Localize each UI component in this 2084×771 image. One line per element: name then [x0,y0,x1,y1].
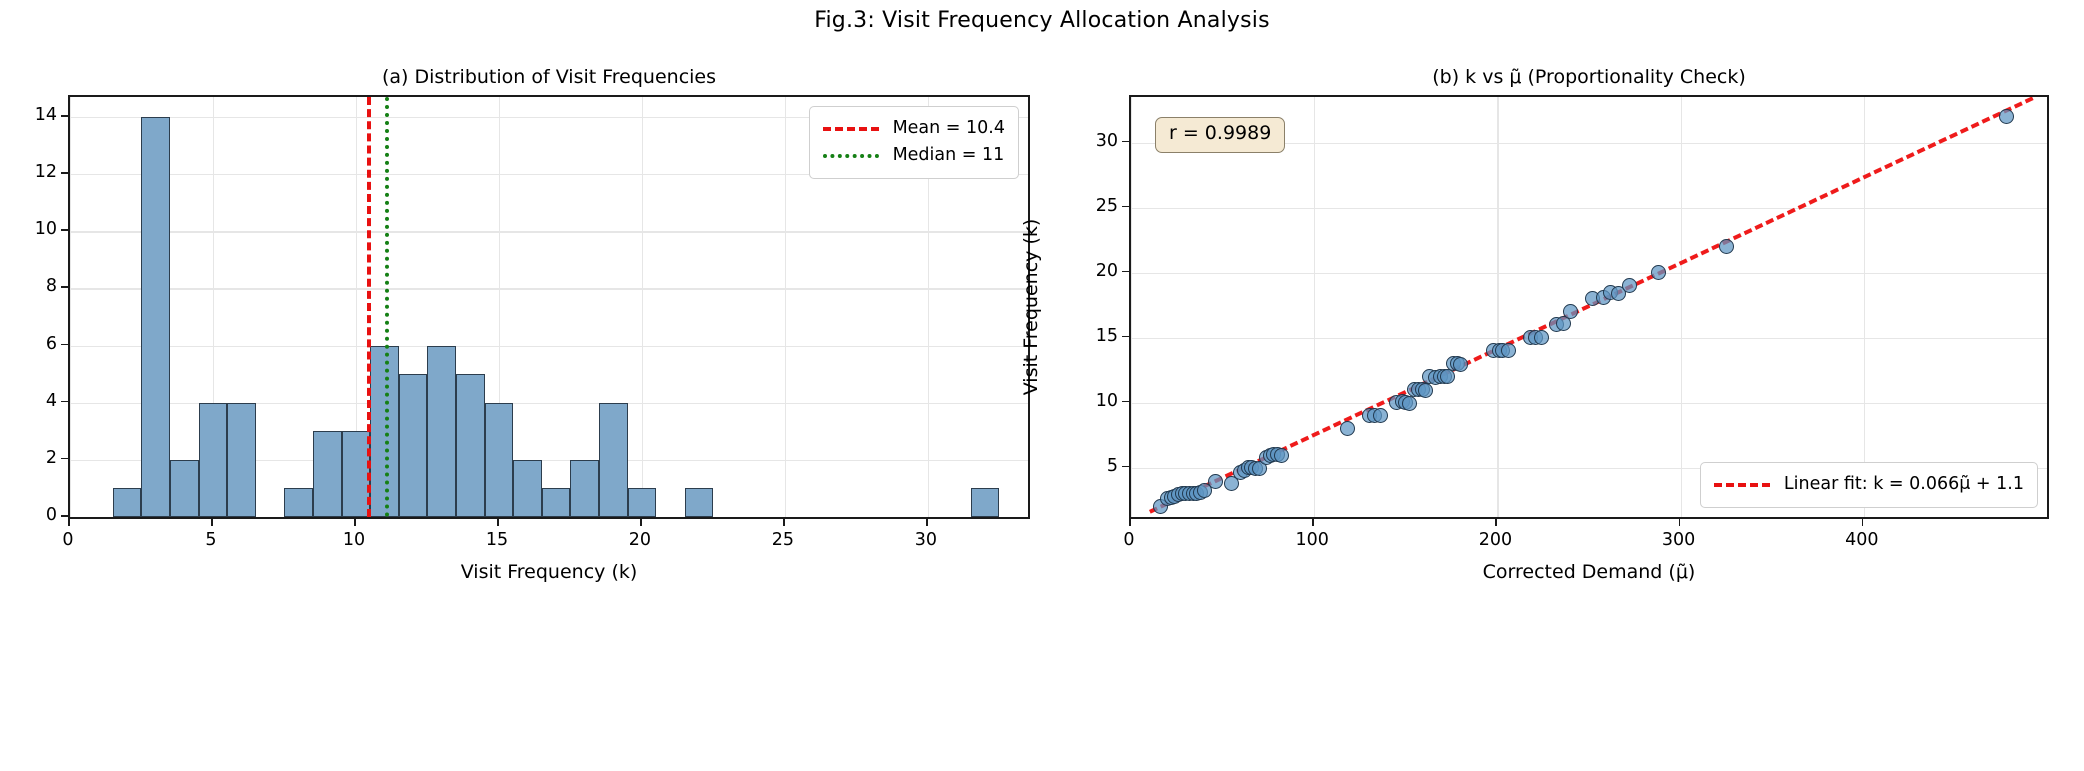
gridline-vertical [785,97,786,517]
gridline-vertical [1314,97,1315,517]
gridline-horizontal [70,346,1028,347]
scatter-point [1501,343,1516,358]
panel-a-legend: Mean = 10.4 Median = 11 [809,106,1019,179]
scatter-point [1622,278,1637,293]
y-tick [1122,206,1129,208]
y-ticklabel: 10 [1096,391,1118,411]
gridline-vertical [1864,97,1865,517]
panel-b-ylabel: Visit Frequency (k) [1020,219,1042,396]
dashed-line-icon [823,127,879,131]
scatter-point [1719,239,1734,254]
scatter-point [1373,408,1388,423]
panel-b-axes: r = 0.9989 Linear fit: k = 0.066μ̃ + 1.1 [1129,95,2049,519]
gridline-horizontal [1131,208,2047,209]
gridline-horizontal [70,231,1028,232]
gridline-vertical [1131,97,1132,517]
x-tick [1495,519,1497,526]
histogram-bar [971,488,1000,517]
gridline-vertical [642,97,643,517]
histogram-bar [542,488,571,517]
scatter-point [1999,109,2014,124]
panel-b-scatter: (b) k vs μ̃ (Proportionality Check) Visi… [1129,95,2049,519]
scatter-point [1563,304,1578,319]
scatter-point [1418,383,1433,398]
legend-label-mean: Mean = 10.4 [893,120,1005,138]
scatter-point [1534,330,1549,345]
y-ticklabel: 0 [46,505,57,525]
histogram-bar [399,374,428,517]
y-tick [1122,141,1129,143]
scatter-point [1453,357,1468,372]
x-tick [1312,519,1314,526]
x-tick [68,519,70,526]
gridline-horizontal [1131,403,2047,404]
panel-a-xlabel: Visit Frequency (k) [68,561,1030,583]
histogram-bar [570,460,599,517]
y-ticklabel: 6 [46,334,57,354]
y-tick [1122,466,1129,468]
x-tick [497,519,499,526]
panel-b-title: (b) k vs μ̃ (Proportionality Check) [1129,66,2049,95]
y-ticklabel: 20 [1096,261,1118,281]
histogram-bar [513,460,542,517]
histogram-bar [113,488,142,517]
figure-root: Fig.3: Visit Frequency Allocation Analys… [0,0,2084,771]
x-tick [640,519,642,526]
y-tick [1122,401,1129,403]
legend-label-linear-fit: Linear fit: k = 0.066μ̃ + 1.1 [1784,476,2024,494]
histogram-bar [456,374,485,517]
panel-a-title: (a) Distribution of Visit Frequencies [68,66,1030,95]
x-ticklabel: 400 [1845,530,1878,550]
figure-suptitle: Fig.3: Visit Frequency Allocation Analys… [0,8,2084,33]
x-tick [783,519,785,526]
histogram-bar [599,403,628,517]
panel-b-legend: Linear fit: k = 0.066μ̃ + 1.1 [1700,462,2038,508]
x-tick [1129,519,1131,526]
histogram-bar [199,403,228,517]
x-tick [211,519,213,526]
legend-entry-mean: Mean = 10.4 [823,115,1005,142]
x-ticklabel: 20 [629,530,651,550]
y-tick [1122,271,1129,273]
gridline-horizontal [1131,273,2047,274]
y-ticklabel: 2 [46,448,57,468]
legend-entry-linear-fit: Linear fit: k = 0.066μ̃ + 1.1 [1714,471,2024,498]
x-tick [1679,519,1681,526]
y-ticklabel: 8 [46,276,57,296]
y-tick [61,344,68,346]
y-tick [61,286,68,288]
gridline-horizontal [1131,338,2047,339]
x-tick [926,519,928,526]
x-ticklabel: 30 [915,530,937,550]
x-ticklabel: 300 [1662,530,1695,550]
gridline-horizontal [70,517,1028,518]
x-tick [1862,519,1864,526]
panel-b-xlabel: Corrected Demand (μ̃) [1129,561,2049,583]
dotted-line-icon [823,154,879,158]
x-ticklabel: 15 [486,530,508,550]
histogram-bar [685,488,714,517]
x-ticklabel: 0 [62,530,73,550]
panel-a-axes: Mean = 10.4 Median = 11 [68,95,1030,519]
y-ticklabel: 30 [1096,131,1118,151]
scatter-point [1208,474,1223,489]
dashed-line-icon [1714,483,1770,487]
scatter-point [1340,421,1355,436]
y-tick [61,515,68,517]
histogram-bar [313,431,342,517]
y-tick [61,401,68,403]
x-ticklabel: 100 [1295,530,1328,550]
x-ticklabel: 0 [1123,530,1134,550]
y-tick [61,172,68,174]
legend-label-median: Median = 11 [893,147,1005,165]
gridline-vertical [1497,97,1498,517]
histogram-bar [284,488,313,517]
scatter-point [1402,396,1417,411]
x-ticklabel: 5 [205,530,216,550]
y-tick [61,458,68,460]
histogram-bar [342,431,371,517]
y-ticklabel: 25 [1096,196,1118,216]
y-tick [61,229,68,231]
x-ticklabel: 10 [343,530,365,550]
y-ticklabel: 4 [46,391,57,411]
histogram-bar [141,117,170,517]
panel-a-histogram: (a) Distribution of Visit Frequencies Nu… [68,95,1030,519]
y-ticklabel: 15 [1096,326,1118,346]
gridline-horizontal [70,288,1028,289]
histogram-bar [427,346,456,517]
gridline-vertical [70,97,71,517]
scatter-point [1274,448,1289,463]
y-tick [1122,336,1129,338]
legend-entry-median: Median = 11 [823,142,1005,169]
histogram-bar [170,460,199,517]
reference-line-mean [367,97,371,517]
y-ticklabel: 5 [1107,456,1118,476]
y-ticklabel: 10 [35,219,57,239]
histogram-bar [227,403,256,517]
x-ticklabel: 25 [772,530,794,550]
y-ticklabel: 12 [35,162,57,182]
y-tick [61,115,68,117]
gridline-vertical [1681,97,1682,517]
histogram-bar [628,488,657,517]
x-tick [354,519,356,526]
correlation-annotation: r = 0.9989 [1155,117,1285,153]
reference-line-median [385,97,389,517]
scatter-point [1651,265,1666,280]
histogram-bar [485,403,514,517]
scatter-point [1440,369,1455,384]
x-ticklabel: 200 [1479,530,1512,550]
y-ticklabel: 14 [35,105,57,125]
